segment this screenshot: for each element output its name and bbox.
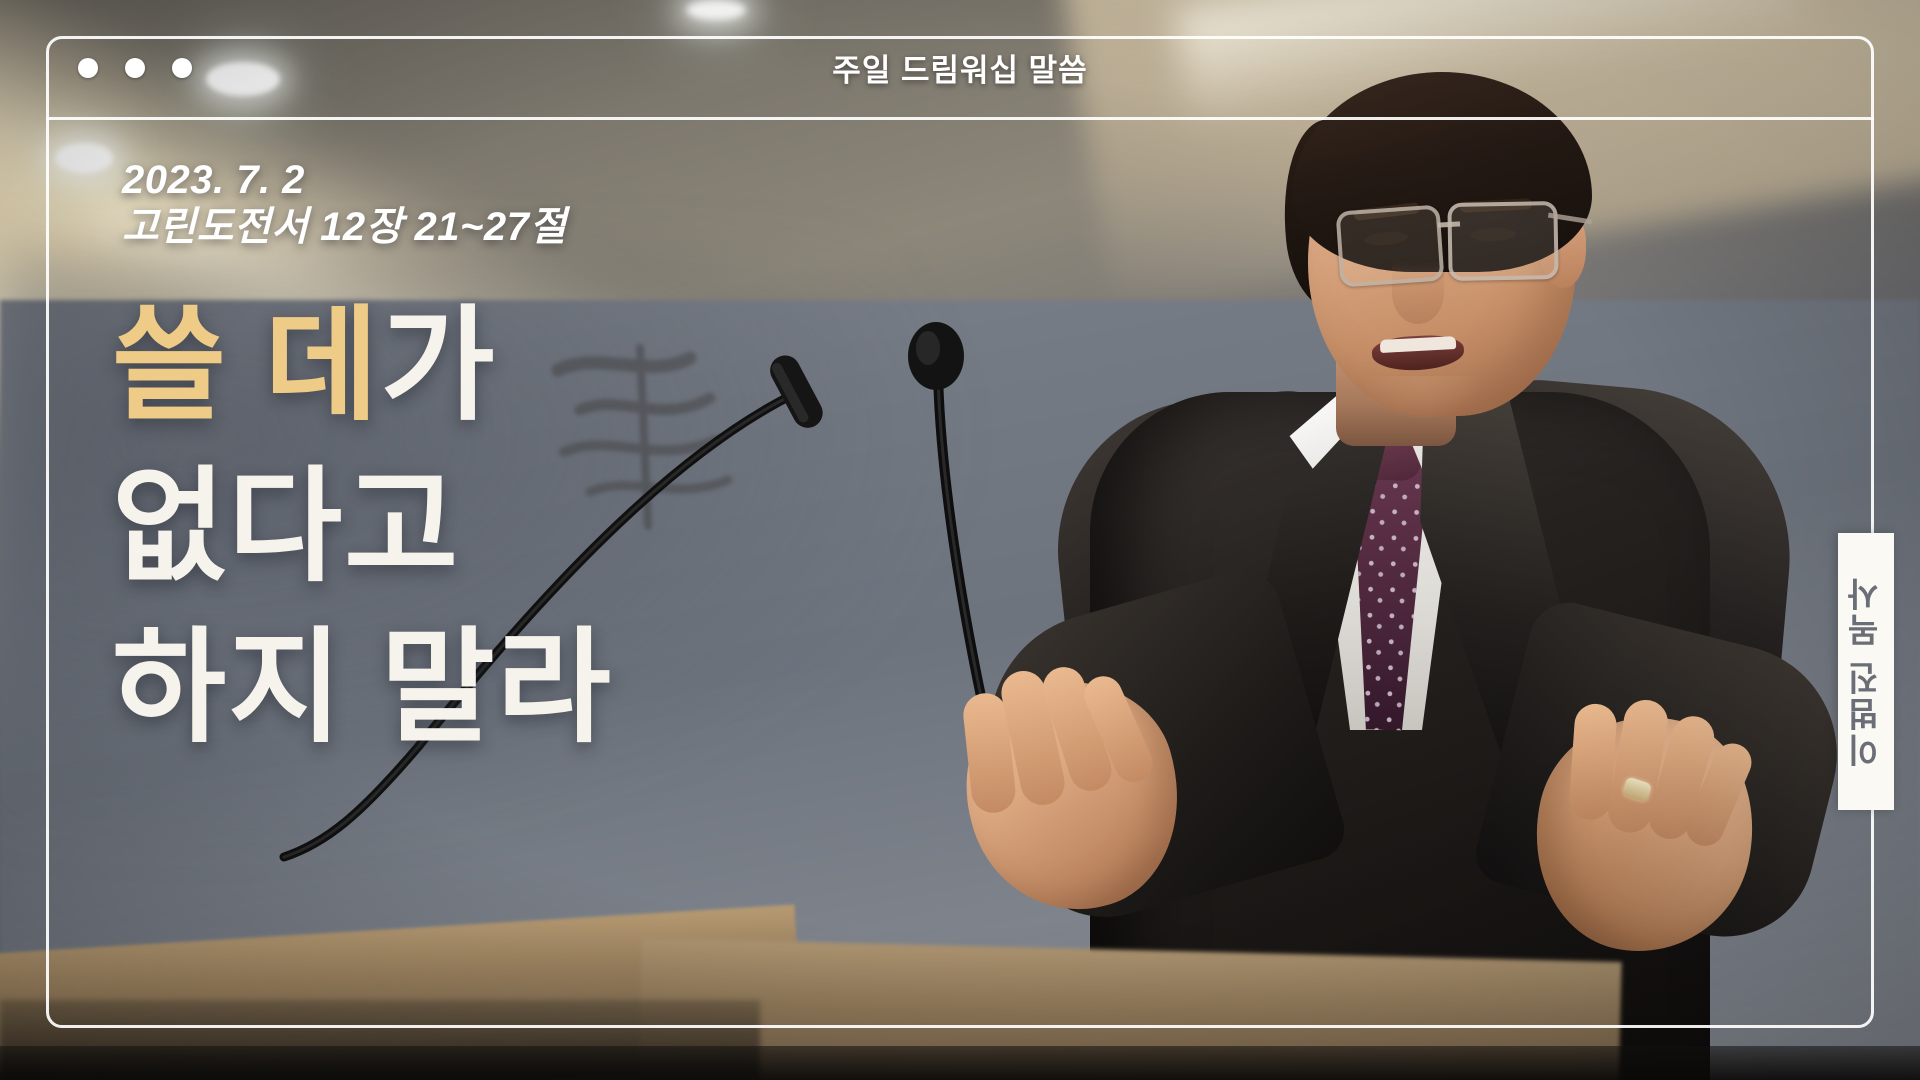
sermon-title-line-1-cream: 가	[381, 297, 497, 435]
ceiling-light-icon	[55, 143, 113, 173]
speaker-figure	[940, 0, 1920, 1080]
speaker-name: 이범진 목사	[1842, 575, 1890, 767]
sermon-meta: 2023. 7. 2 고린도전서 12장 21~27절	[122, 158, 567, 253]
speaker-name-banner: 이범진 목사	[1838, 533, 1894, 810]
sermon-title: 쓸 데가 없다고 하지 말라	[112, 286, 613, 770]
bottom-letterbox	[0, 1046, 1920, 1080]
chin	[1360, 376, 1484, 420]
page-title: 주일 드림워십 말씀	[0, 45, 1920, 90]
eyeglasses-lens-right	[1447, 201, 1558, 281]
window-titlebar-divider	[46, 117, 1874, 120]
slide-canvas: 주일 드림워십 말씀 2023. 7. 2 고린도전서 12장 21~27절 쓸…	[0, 0, 1920, 1080]
sermon-title-line-1-gold: 쓸 데	[112, 297, 381, 435]
sermon-title-line-3: 하지 말라	[112, 608, 613, 769]
sermon-title-line-2: 없다고	[112, 447, 613, 608]
ceiling-light-icon	[686, 0, 746, 20]
sermon-date: 2023. 7. 2	[122, 158, 567, 202]
sermon-title-line-1: 쓸 데가	[112, 286, 613, 447]
scripture-reference: 고린도전서 12장 21~27절	[122, 202, 567, 253]
eyeglasses-lens-left	[1335, 204, 1444, 287]
